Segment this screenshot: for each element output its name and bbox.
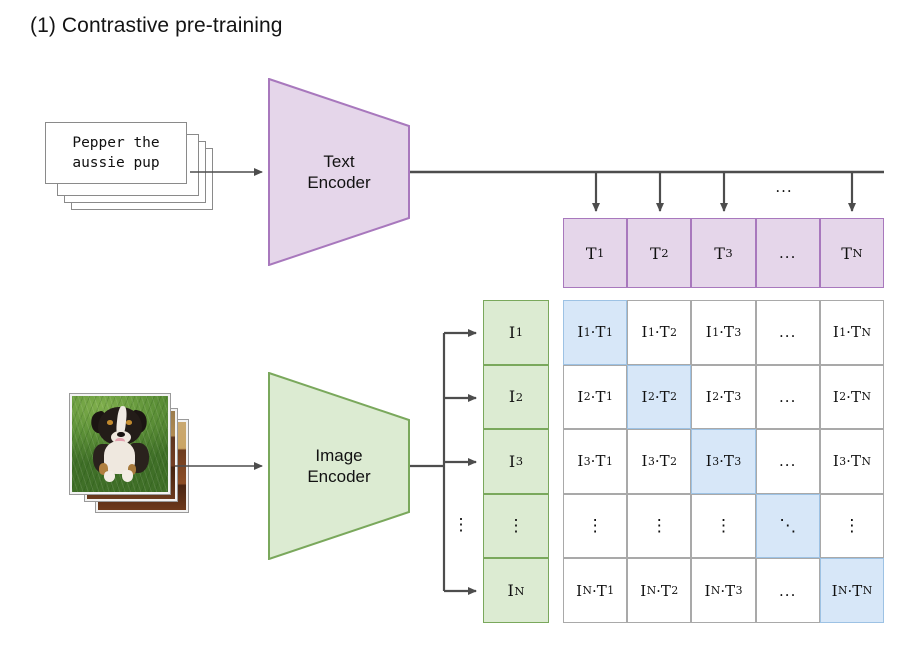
image-embedding-cell[interactable]: I3 — [483, 429, 549, 494]
caption-card-front — [45, 122, 187, 184]
image-encoder-line-2: Encoder — [307, 467, 370, 486]
photo-thumbnail-puppy — [72, 396, 168, 492]
image-embedding-cell[interactable]: ⋮ — [483, 494, 549, 559]
similarity-cell[interactable]: ⋮ — [627, 494, 691, 559]
image-bus-ellipsis: ⋮ — [452, 514, 470, 536]
photo-card-front — [70, 394, 170, 494]
image-encoder-label: Image Encoder — [307, 445, 370, 487]
similarity-cell[interactable]: I2·TN — [820, 365, 884, 430]
text-encoder-line-1: Text — [323, 152, 354, 171]
text-bus-ellipsis: ... — [764, 178, 804, 196]
text-encoder-block[interactable]: Text Encoder — [268, 78, 410, 266]
text-embedding-cell[interactable]: T2 — [627, 218, 691, 288]
similarity-cell[interactable]: I3·T1 — [563, 429, 627, 494]
dog-paw-left-shape — [104, 471, 116, 483]
page-title: (1) Contrastive pre-training — [30, 14, 283, 38]
similarity-cell[interactable]: IN·TN — [820, 558, 884, 623]
similarity-cell[interactable]: ⋮ — [563, 494, 627, 559]
similarity-cell[interactable]: ⋮ — [820, 494, 884, 559]
similarity-cell[interactable]: IN·T3 — [691, 558, 755, 623]
similarity-cell[interactable]: I3·T3 — [691, 429, 755, 494]
dog-eye-right-shape — [126, 420, 133, 425]
dog-paw-right-shape — [122, 470, 134, 482]
similarity-cell[interactable]: I2·T2 — [627, 365, 691, 430]
text-embedding-cell[interactable]: T1 — [563, 218, 627, 288]
similarity-cell[interactable]: ⋱ — [756, 494, 820, 559]
similarity-cell[interactable]: IN·T1 — [563, 558, 627, 623]
text-encoder-line-2: Encoder — [307, 173, 370, 192]
similarity-cell[interactable]: ⋮ — [691, 494, 755, 559]
similarity-cell[interactable]: I1·T2 — [627, 300, 691, 365]
image-embedding-cell[interactable]: I1 — [483, 300, 549, 365]
similarity-cell[interactable]: I1·TN — [820, 300, 884, 365]
similarity-cell[interactable]: I1·T1 — [563, 300, 627, 365]
image-encoder-block[interactable]: Image Encoder — [268, 372, 410, 560]
similarity-cell[interactable]: ... — [756, 365, 820, 430]
dog-nose-shape — [117, 432, 125, 437]
similarity-cell[interactable]: ... — [756, 429, 820, 494]
text-embedding-cell[interactable]: T3 — [691, 218, 755, 288]
similarity-cell[interactable]: I2·T3 — [691, 365, 755, 430]
similarity-cell[interactable]: ... — [756, 558, 820, 623]
image-encoder-line-1: Image — [315, 446, 362, 465]
text-encoder-label: Text Encoder — [307, 151, 370, 193]
similarity-cell[interactable]: I3·T2 — [627, 429, 691, 494]
image-embedding-cell[interactable]: IN — [483, 558, 549, 623]
similarity-cell[interactable]: IN·T2 — [627, 558, 691, 623]
dog-eye-left-shape — [107, 420, 114, 425]
similarity-cell[interactable]: I1·T3 — [691, 300, 755, 365]
diagram-canvas: (1) Contrastive pre-training Pepper the … — [0, 0, 906, 654]
similarity-cell[interactable]: ... — [756, 300, 820, 365]
text-embedding-cell[interactable]: TN — [820, 218, 884, 288]
similarity-cell[interactable]: I3·TN — [820, 429, 884, 494]
text-embedding-cell[interactable]: ... — [756, 218, 820, 288]
image-embedding-cell[interactable]: I2 — [483, 365, 549, 430]
similarity-cell[interactable]: I2·T1 — [563, 365, 627, 430]
